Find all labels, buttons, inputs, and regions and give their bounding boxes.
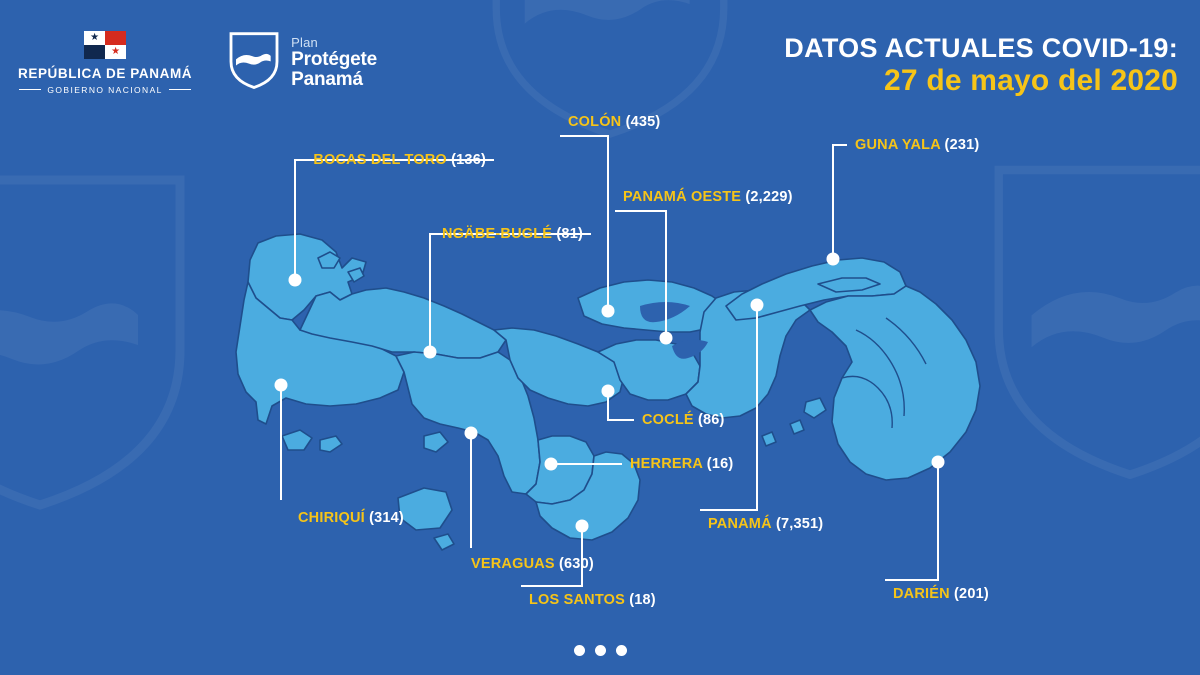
island-veraguas-1 <box>424 432 448 452</box>
pagination-dots[interactable] <box>0 645 1200 656</box>
island-coiba <box>398 488 452 530</box>
case-count-darien: (201) <box>950 586 989 602</box>
province-name-chiriqui: CHIRIQUÍ <box>298 510 365 526</box>
leader-line-darien <box>871 448 952 594</box>
leader-line-herrera <box>537 450 636 478</box>
province-name-bocas-del-toro: BOCAS DEL TORO <box>313 152 447 168</box>
leader-line-panama-oeste <box>601 197 680 352</box>
leader-line-panama <box>686 291 771 524</box>
pagination-dot-2[interactable] <box>616 645 627 656</box>
callout-label-guna-yala[interactable]: GUNA YALA (231) <box>855 138 979 153</box>
callout-label-los-santos[interactable]: LOS SANTOS (18) <box>529 593 656 608</box>
island-pearl-1 <box>804 398 826 418</box>
pagination-dot-1[interactable] <box>595 645 606 656</box>
island-pearl-2 <box>790 420 804 434</box>
case-count-panama: (7,351) <box>772 516 824 532</box>
leader-line-veraguas <box>449 419 485 562</box>
case-count-bocas-del-toro: (136) <box>447 152 486 168</box>
province-name-colon: COLÓN <box>568 114 621 130</box>
callout-label-panama-oeste[interactable]: PANAMÁ OESTE (2,229) <box>623 190 793 205</box>
case-count-colon: (435) <box>621 114 660 130</box>
callout-label-darien[interactable]: DARIÉN (201) <box>893 587 989 602</box>
pagination-dot-0[interactable] <box>574 645 585 656</box>
callout-label-bocas-del-toro[interactable]: BOCAS DEL TORO (136) <box>313 153 486 168</box>
case-count-panama-oeste: (2,229) <box>741 189 793 205</box>
island-chiriqui-2 <box>320 436 342 452</box>
leader-line-chiriqui <box>267 371 304 514</box>
leader-line-los-santos <box>507 512 596 600</box>
callout-label-panama[interactable]: PANAMÁ (7,351) <box>708 517 823 532</box>
province-name-guna-yala: GUNA YALA <box>855 137 940 153</box>
leader-line-cocle <box>594 377 648 434</box>
province-name-ngabe-bugle: NGÄBE-BUGLÉ <box>442 226 552 242</box>
case-count-chiriqui: (314) <box>365 510 404 526</box>
infographic-canvas: ★ ★ REPÚBLICA DE PANAMÁ GOBIERNO NACIONA… <box>0 0 1200 675</box>
province-name-panama-oeste: PANAMÁ OESTE <box>623 189 741 205</box>
province-name-panama: PANAMÁ <box>708 516 772 532</box>
callout-label-colon[interactable]: COLÓN (435) <box>568 115 660 130</box>
province-name-los-santos: LOS SANTOS <box>529 592 625 608</box>
province-name-darien: DARIÉN <box>893 586 950 602</box>
case-count-guna-yala: (231) <box>940 137 979 153</box>
callout-label-chiriqui[interactable]: CHIRIQUÍ (314) <box>298 511 404 526</box>
case-count-los-santos: (18) <box>625 592 656 608</box>
